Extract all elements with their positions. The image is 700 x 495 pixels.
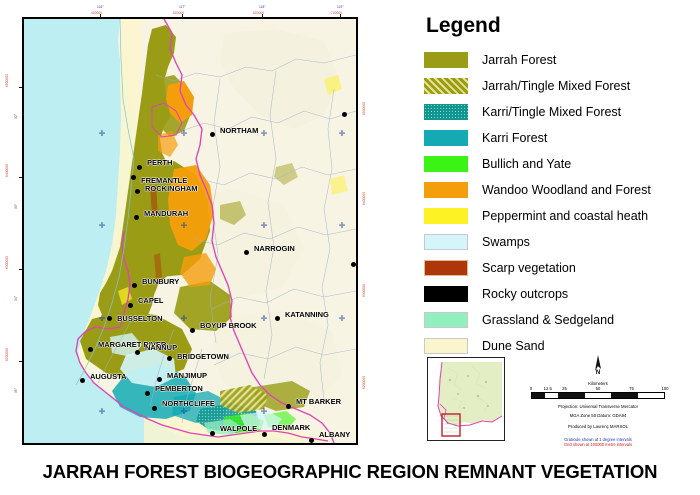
grid-note: Grid shown at 100000 metre intervals	[528, 442, 668, 447]
graticule-lat-left-3: 35°	[14, 388, 18, 393]
legend-item-bullich-and-yate[interactable]: Bullich and Yate	[424, 151, 692, 177]
city-dot-icon	[262, 432, 267, 437]
legend-swatch-bullich-and-yate	[424, 156, 468, 172]
city-label: ROCKINGHAM	[145, 184, 198, 193]
scale-bar	[531, 392, 665, 399]
city-dot-icon	[351, 262, 356, 267]
north-label: N	[596, 370, 600, 376]
city-dot-icon	[145, 391, 150, 396]
legend-label-dune-sand: Dune Sand	[482, 339, 545, 353]
graticule-cross: ✛	[261, 130, 268, 138]
graticule-lon-top-0: 116°	[97, 5, 104, 9]
frame-tick	[19, 361, 22, 362]
legend-panel: Legend Jarrah ForestJarrah/Tingle Mixed …	[424, 14, 692, 359]
graticule-lat-left-0: 32°	[14, 114, 18, 119]
graticule-cross: ✛	[339, 130, 346, 138]
frame-tick	[19, 87, 22, 88]
graticule-lon-top-1: 117°	[179, 5, 186, 9]
legend-item-grassland-and-sedgeland[interactable]: Grassland & Sedgeland	[424, 307, 692, 333]
graticule-cross: ✛	[339, 222, 346, 230]
graticule-cross: ✛	[261, 408, 268, 416]
city-dot-icon	[210, 431, 215, 436]
legend-label-scarp-vegetation: Scarp vegetation	[482, 261, 576, 275]
legend-swatch-dune-sand	[424, 338, 468, 354]
city-dot-icon	[244, 250, 249, 255]
city-label: BRIDGETOWN	[177, 352, 229, 361]
city-dot-icon	[134, 215, 139, 220]
grid-northing-right-3: 6200000	[362, 376, 366, 389]
graticule-cross: ✛	[99, 408, 106, 416]
city-label: MANJIMUP	[167, 371, 207, 380]
legend-swatch-scarp-vegetation	[424, 260, 468, 276]
scale-tick-2: 25	[562, 386, 567, 391]
frame-tick	[340, 14, 341, 17]
graticule-cross: ✛	[99, 130, 106, 138]
city-dot-icon	[152, 406, 157, 411]
page-title: JARRAH FOREST BIOGEOGRAPHIC REGION REMNA…	[0, 461, 700, 483]
legend-item-swamps[interactable]: Swamps	[424, 229, 692, 255]
graticule-lon-top-2: 118°	[259, 5, 266, 9]
legend-label-karri-tingle-mixed-forest: Karri/Tingle Mixed Forest	[482, 105, 621, 119]
city-label: NORTHAM	[220, 126, 258, 135]
city-dot-icon	[167, 356, 172, 361]
legend-item-karri-tingle-mixed-forest[interactable]: Karri/Tingle Mixed Forest	[424, 99, 692, 125]
legend-swatch-karri-forest	[424, 130, 468, 146]
city-label: NARROGIN	[254, 244, 295, 253]
city-dot-icon	[190, 328, 195, 333]
city-label: WALPOLE	[220, 424, 257, 433]
city-dot-icon	[342, 112, 347, 117]
scale-tick-labels: 012.5255075100	[528, 386, 668, 392]
grid-northing-right-0: 6500000	[362, 102, 366, 115]
city-dot-icon	[131, 175, 136, 180]
legend-swatch-jarrah-forest	[424, 52, 468, 68]
city-dot-icon	[132, 283, 137, 288]
legend-label-rocky-outcrops: Rocky outcrops	[482, 287, 568, 301]
city-label: AUGUSTA	[90, 372, 127, 381]
main-map[interactable]: ✛ ✛ ✛ ✛ ✛ ✛ ✛ ✛ ✛ ✛ ✛ ✛ ✛ ✛ ✛ MERREDINNO…	[22, 17, 358, 445]
graticule-lon-top-3: 119°	[337, 5, 344, 9]
city-label: NANNUP	[145, 343, 177, 352]
legend-heading: Legend	[426, 14, 692, 38]
locator-inset-map[interactable]	[427, 357, 505, 441]
graticule-cross: ✛	[261, 222, 268, 230]
graticule-lat-left-2: 34°	[14, 296, 18, 301]
city-dot-icon	[137, 165, 142, 170]
frame-tick	[19, 177, 22, 178]
legend-swatch-peppermint-and-coastal-heath	[424, 208, 468, 224]
city-dot-icon	[88, 347, 93, 352]
legend-item-jarrah-forest[interactable]: Jarrah Forest	[424, 47, 692, 73]
legend-item-wandoo-woodland-and-forest[interactable]: Wandoo Woodland and Forest	[424, 177, 692, 203]
projection-line-2: MGA Zone 50 Datum: GDA94	[528, 413, 668, 419]
grid-northing-left-1: 6400000	[5, 164, 9, 177]
city-label: KATANNING	[285, 310, 329, 319]
legend-label-peppermint-and-coastal-heath: Peppermint and coastal heath	[482, 209, 648, 223]
graticule-lat-left-1: 33°	[14, 204, 18, 209]
grid-northing-right-2: 6300000	[362, 284, 366, 297]
grid-northing-right-1: 6400000	[362, 192, 366, 205]
scale-tick-5: 100	[662, 386, 669, 391]
legend-label-bullich-and-yate: Bullich and Yate	[482, 157, 571, 171]
legend-items: Jarrah ForestJarrah/Tingle Mixed ForestK…	[424, 47, 692, 359]
legend-swatch-karri-tingle-mixed-forest	[424, 104, 468, 120]
city-dot-icon	[210, 132, 215, 137]
legend-label-jarrah-tingle-mixed-forest: Jarrah/Tingle Mixed Forest	[482, 79, 630, 93]
map-info-block: N Kilometers 012.5255075100 Projection: …	[528, 355, 668, 447]
city-label: PEMBERTON	[155, 384, 203, 393]
legend-item-scarp-vegetation[interactable]: Scarp vegetation	[424, 255, 692, 281]
grid-northing-left-3: 6200000	[5, 348, 9, 361]
city-label: PERTH	[147, 158, 172, 167]
city-label: BUSSELTON	[117, 314, 163, 323]
frame-tick	[19, 269, 22, 270]
graticule-cross: ✛	[181, 222, 188, 230]
legend-item-rocky-outcrops[interactable]: Rocky outcrops	[424, 281, 692, 307]
city-dot-icon	[275, 316, 280, 321]
city-label: MANDURAH	[144, 209, 188, 218]
legend-item-jarrah-tingle-mixed-forest[interactable]: Jarrah/Tingle Mixed Forest	[424, 73, 692, 99]
projection-line-1: Projection: Universal Transverse Mercato…	[528, 404, 668, 410]
graticule-cross: ✛	[181, 315, 188, 323]
frame-tick	[262, 14, 263, 17]
grid-northing-left-2: 6300000	[5, 256, 9, 269]
city-dot-icon	[135, 189, 140, 194]
legend-swatch-jarrah-tingle-mixed-forest	[424, 78, 468, 94]
city-dot-icon	[128, 303, 133, 308]
locator-inset-canvas	[428, 358, 505, 441]
legend-swatch-swamps	[424, 234, 468, 250]
graticule-cross: ✛	[99, 222, 106, 230]
graticule-cross: ✛	[181, 130, 188, 138]
city-label: CAPEL	[138, 296, 163, 305]
frame-tick	[100, 14, 101, 17]
graticule-cross: ✛	[181, 408, 188, 416]
legend-label-swamps: Swamps	[482, 235, 530, 249]
scale-tick-0: 0	[530, 386, 532, 391]
city-dot-icon	[80, 378, 85, 383]
legend-label-grassland-and-sedgeland: Grassland & Sedgeland	[482, 313, 614, 327]
legend-label-jarrah-forest: Jarrah Forest	[482, 53, 556, 67]
city-dot-icon	[107, 316, 112, 321]
producer-credit: Produced by Laurenç MARSOL	[528, 424, 668, 430]
legend-swatch-grassland-and-sedgeland	[424, 312, 468, 328]
north-arrow: N	[528, 355, 668, 381]
city-label: MT BARKER	[296, 397, 341, 406]
city-dot-icon	[286, 404, 291, 409]
graticule-cross: ✛	[261, 315, 268, 323]
frame-tick	[182, 14, 183, 17]
city-dot-icon	[309, 438, 314, 443]
city-dot-icon	[157, 377, 162, 382]
grid-northing-left-0: 6500000	[5, 74, 9, 87]
city-label: BUNBURY	[142, 277, 179, 286]
graticule-cross: ✛	[99, 315, 106, 323]
legend-swatch-wandoo-woodland-and-forest	[424, 182, 468, 198]
city-label: BOYUP BROOK	[200, 321, 257, 330]
city-dot-icon	[135, 350, 140, 355]
graticule-cross: ✛	[339, 315, 346, 323]
scale-tick-1: 12.5	[544, 386, 552, 391]
scale-tick-4: 75	[629, 386, 634, 391]
legend-item-karri-forest[interactable]: Karri Forest	[424, 125, 692, 151]
legend-label-karri-forest: Karri Forest	[482, 131, 547, 145]
city-label: ALBANY	[319, 430, 350, 439]
legend-item-peppermint-and-coastal-heath[interactable]: Peppermint and coastal heath	[424, 203, 692, 229]
scale-tick-3: 50	[596, 386, 601, 391]
legend-swatch-rocky-outcrops	[424, 286, 468, 302]
city-label: NORTHCLIFFE	[162, 399, 215, 408]
legend-label-wandoo-woodland-and-forest: Wandoo Woodland and Forest	[482, 183, 651, 197]
city-label: DENMARK	[272, 423, 310, 432]
